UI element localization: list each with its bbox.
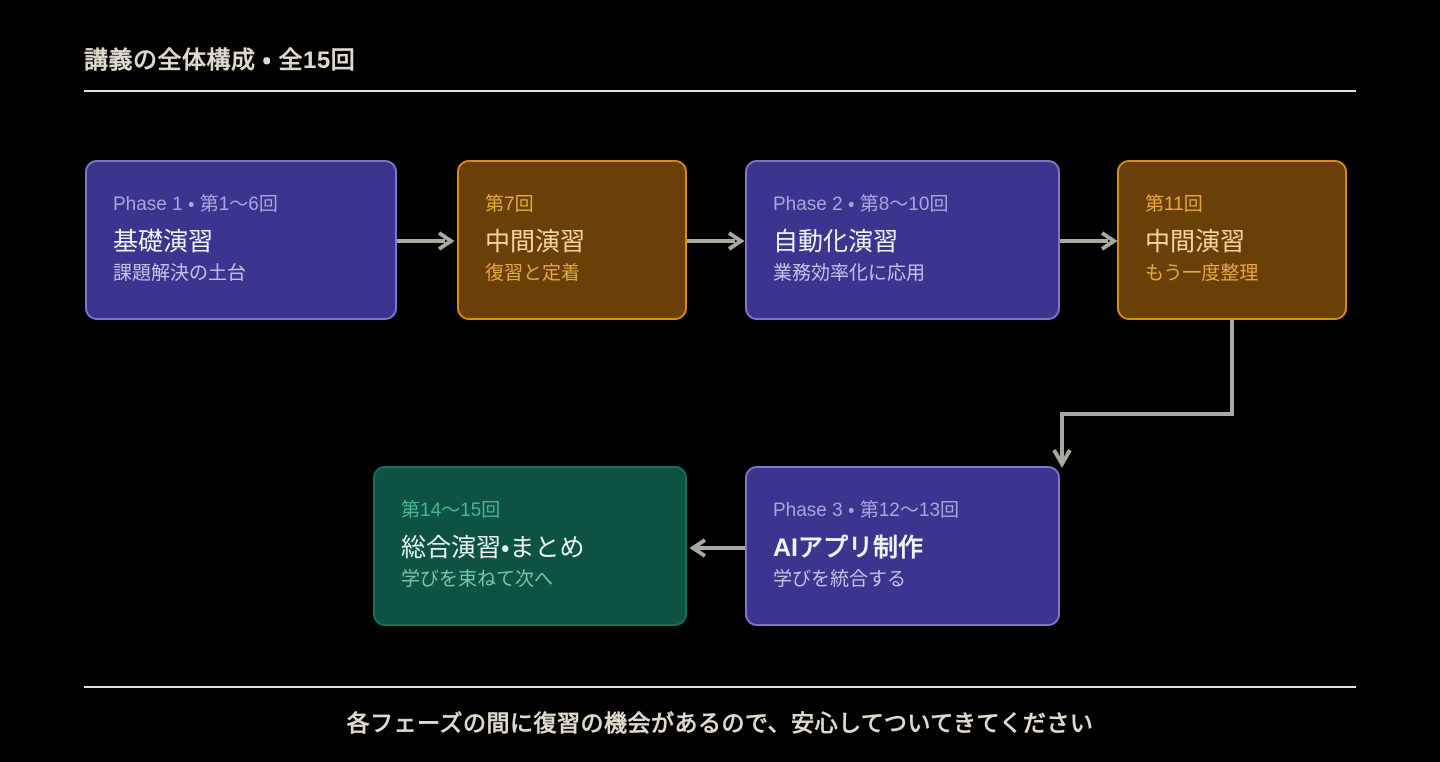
card-eyebrow: 第14〜15回	[401, 499, 659, 523]
card-eyebrow: 第11回	[1145, 193, 1319, 217]
card-review-7[interactable]: 第7回 中間演習 復習と定着	[457, 160, 687, 320]
card-headline: 中間演習	[485, 227, 659, 258]
card-review-11[interactable]: 第11回 中間演習 もう一度整理	[1117, 160, 1347, 320]
connector-arrow-phase1-to-review7	[397, 228, 459, 254]
card-subtitle: 課題解決の土台	[113, 262, 369, 287]
card-subtitle: 学びを束ねて次へ	[401, 568, 659, 593]
card-phase-1[interactable]: Phase 1 ・ 第1〜6回 基礎演習 課題解決の土台	[85, 160, 397, 320]
footer-divider	[84, 686, 1356, 688]
card-subtitle: もう一度整理	[1145, 262, 1319, 287]
card-eyebrow: Phase 2 ・ 第8〜10回	[773, 193, 1032, 217]
card-headline: 自動化演習	[773, 227, 1032, 258]
card-phase-2[interactable]: Phase 2 ・ 第8〜10回 自動化演習 業務効率化に応用	[745, 160, 1060, 320]
footer-note: 各フェーズの間に復習の機会があるので、安心してついてきてください	[0, 704, 1440, 738]
card-eyebrow: 第7回	[485, 193, 659, 217]
card-wrap-14-15[interactable]: 第14〜15回 総合演習・まとめ 学びを束ねて次へ	[373, 466, 687, 626]
card-headline: 基礎演習	[113, 227, 369, 258]
card-headline: 総合演習・まとめ	[401, 533, 659, 564]
card-headline: 中間演習	[1145, 227, 1319, 258]
card-headline: AIアプリ制作	[773, 533, 1032, 564]
card-subtitle: 復習と定着	[485, 262, 659, 287]
page-title: 講義の全体構成 ・ 全15回	[84, 40, 355, 75]
card-eyebrow: Phase 1 ・ 第1〜6回	[113, 193, 369, 217]
connector-elbow-review11-to-phase3	[1046, 318, 1246, 470]
card-phase-3[interactable]: Phase 3 ・ 第12〜13回 AIアプリ制作 学びを統合する	[745, 466, 1060, 626]
connector-arrow-phase3-to-wrap	[687, 535, 749, 561]
card-subtitle: 業務効率化に応用	[773, 262, 1032, 287]
connector-arrow-phase2-to-review11	[1060, 228, 1122, 254]
card-eyebrow: Phase 3 ・ 第12〜13回	[773, 499, 1032, 523]
header-divider	[84, 90, 1356, 92]
connector-arrow-review7-to-phase2	[687, 228, 749, 254]
card-subtitle: 学びを統合する	[773, 568, 1032, 593]
slide-canvas: 講義の全体構成 ・ 全15回 Phase 1 ・ 第1〜6回 基礎演習 課題解決…	[0, 0, 1440, 762]
